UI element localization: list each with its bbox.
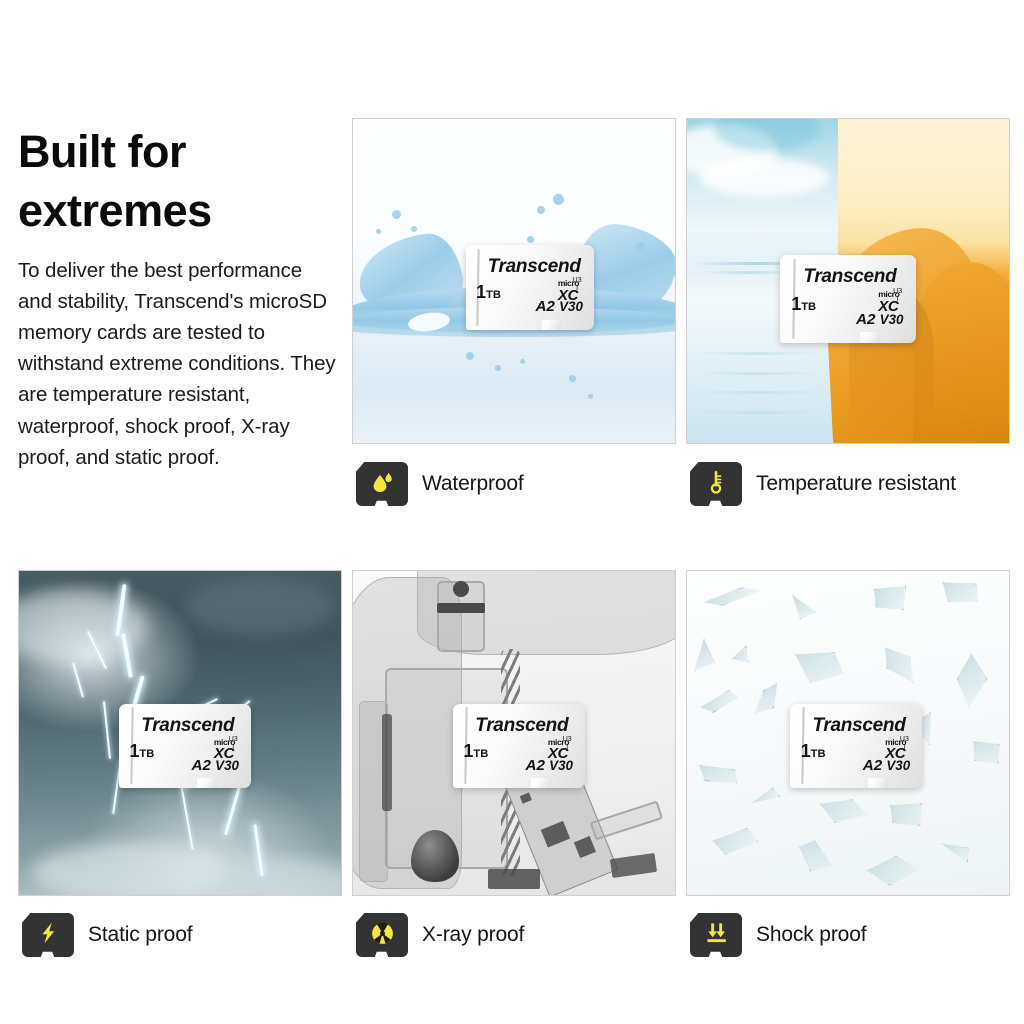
card-brand: Transcend — [803, 266, 896, 288]
card-notch — [542, 320, 561, 330]
xray-clip-head — [453, 581, 469, 597]
panel-shock-proof[interactable]: Transcend 1TB micro XC U3 I A2 V30 — [686, 570, 1010, 896]
radiation-icon — [356, 913, 408, 957]
water-droplet — [569, 375, 576, 382]
microsd-card: Transcend 1TB micro XC U3 I A2 V30 — [780, 255, 915, 342]
card-brand: Transcend — [141, 715, 234, 737]
water-droplet — [376, 229, 381, 234]
feature-waterproof[interactable]: Waterproof — [356, 462, 524, 506]
water-droplet — [411, 226, 417, 232]
card-capacity: 1TB — [129, 741, 154, 762]
badge-waterproof — [356, 462, 408, 506]
ice-ripple — [693, 411, 826, 414]
lightning-bolt-icon — [22, 913, 74, 957]
card-notch — [860, 332, 880, 342]
card-speed-class: A2 V30 — [526, 757, 573, 774]
feature-label: Temperature resistant — [756, 472, 956, 496]
intro-block: Built for extremes To deliver the best p… — [18, 122, 336, 473]
card-capacity: 1TB — [791, 294, 816, 315]
microsd-card: Transcend 1TB micro XC U3 I A2 V30 — [466, 245, 595, 329]
card-brand: Transcend — [475, 715, 568, 737]
card-speed-class: A2 V30 — [192, 757, 239, 774]
water-droplet — [392, 210, 401, 219]
feature-shock-proof[interactable]: Shock proof — [690, 913, 866, 957]
microsd-card: Transcend 1TB micro XC U3 I A2 V30 — [453, 704, 585, 788]
card-uhs-marks: U3 I — [893, 288, 902, 304]
badge-static — [22, 913, 74, 957]
scene-water-splash: Transcend 1TB micro XC U3 I A2 V30 — [353, 119, 675, 443]
card-speed-class: A2 V30 — [856, 311, 903, 328]
water-droplet — [553, 194, 564, 205]
xray-chip — [540, 821, 570, 848]
water-droplet — [527, 236, 534, 243]
card-speed-class: A2 V30 — [863, 757, 910, 774]
xray-connector — [488, 869, 540, 888]
water-drop-icon — [356, 462, 408, 506]
scene-shattered-glass: Transcend 1TB micro XC U3 I A2 V30 — [687, 571, 1009, 895]
water-droplet — [466, 352, 474, 360]
ice-cloud — [699, 158, 829, 197]
feature-label: Waterproof — [422, 472, 524, 496]
badge-xray — [356, 913, 408, 957]
microsd-card: Transcend 1TB micro XC U3 I A2 V30 — [119, 704, 251, 788]
storm-cloud — [186, 577, 334, 635]
xray-chip — [573, 836, 595, 858]
ice-ripple — [696, 372, 820, 375]
ice-ripple — [687, 391, 831, 394]
panel-temperature-resistant[interactable]: Transcend 1TB micro XC U3 I A2 V30 — [686, 118, 1010, 444]
feature-xray-proof[interactable]: X-ray proof — [356, 913, 524, 957]
xray-clip-band — [437, 603, 485, 613]
scene-xray-scan: Transcend 1TB micro XC U3 I A2 V30 — [353, 571, 675, 895]
card-capacity: 1TB — [463, 741, 488, 762]
badge-shock — [690, 913, 742, 957]
panel-waterproof[interactable]: Transcend 1TB micro XC U3 I A2 V30 — [352, 118, 676, 444]
card-notch — [531, 778, 551, 788]
card-notch — [868, 778, 888, 788]
down-arrows-icon — [690, 913, 742, 957]
microsd-card: Transcend 1TB micro XC U3 I A2 V30 — [790, 704, 922, 788]
card-brand: Transcend — [812, 715, 905, 737]
panel-static-proof[interactable]: Transcend 1TB micro XC U3 I A2 V30 — [18, 570, 342, 896]
ice-ripple — [690, 352, 826, 355]
page-title: Built for extremes — [18, 122, 336, 241]
xray-chip — [519, 793, 532, 805]
feature-static-proof[interactable]: Static proof — [22, 913, 192, 957]
thermometer-icon — [690, 462, 742, 506]
card-brand: Transcend — [488, 256, 581, 278]
card-capacity: 1TB — [801, 741, 826, 762]
scene-lightning-storm: Transcend 1TB micro XC U3 I A2 V30 — [19, 571, 341, 895]
panel-xray-proof[interactable]: Transcend 1TB micro XC U3 I A2 V30 — [352, 570, 676, 896]
water-droplet — [495, 365, 501, 371]
xray-bottle-edge — [382, 714, 392, 811]
card-notch — [197, 778, 217, 788]
feature-temperature-resistant[interactable]: Temperature resistant — [690, 462, 956, 506]
feature-label: Static proof — [88, 923, 192, 947]
card-uhs-marks: U3 I — [229, 736, 238, 752]
feature-label: Shock proof — [756, 923, 866, 947]
scene-ice-desert-split: Transcend 1TB micro XC U3 I A2 V30 — [687, 119, 1009, 443]
card-speed-class: A2 V30 — [535, 298, 582, 315]
feature-label: X-ray proof — [422, 923, 524, 947]
card-uhs-marks: U3 I — [573, 277, 582, 293]
card-uhs-marks: U3 I — [563, 736, 572, 752]
card-uhs-marks: U3 I — [900, 736, 909, 752]
card-capacity: 1TB — [476, 282, 501, 303]
product-feature-page: Built for extremes To deliver the best p… — [0, 0, 1024, 1024]
badge-temperature — [690, 462, 742, 506]
intro-description: To deliver the best performance and stab… — [18, 255, 336, 473]
